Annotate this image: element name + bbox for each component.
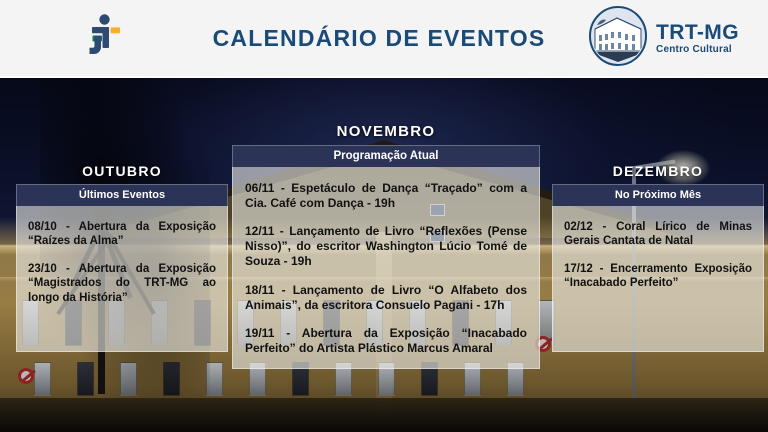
event-item: 19/11 - Abertura da Exposição “Inacabado…: [245, 326, 527, 356]
month-subtitle-novembro: Programação Atual: [232, 145, 540, 167]
month-column-novembro: NOVEMBRO Programação Atual 06/11 - Espet…: [232, 123, 540, 369]
month-title-dezembro: DEZEMBRO: [552, 163, 764, 179]
poster-header: CALENDÁRIO DE EVENTOS: [0, 0, 768, 78]
month-subtitle-outubro: Últimos Eventos: [16, 184, 228, 206]
month-subtitle-dezembro: No Próximo Mês: [552, 184, 764, 206]
month-title-outubro: OUTUBRO: [16, 163, 228, 179]
header-brand-area: TRT-MG Centro Cultural: [558, 5, 768, 72]
event-item: 17/12 - Encerramento Exposição “Inacabad…: [564, 262, 752, 291]
month-column-dezembro: DEZEMBRO No Próximo Mês 02/12 - Coral Lí…: [552, 163, 764, 352]
month-events-dezembro: 02/12 - Coral Lírico de Minas Gerais Can…: [552, 206, 764, 352]
trt-jt-symbol-logo: [80, 13, 120, 64]
month-events-novembro: 06/11 - Espetáculo de Dança “Traçado” co…: [232, 167, 540, 369]
event-item: 12/11 - Lançamento de Livro “Reflexões (…: [245, 224, 527, 269]
cultural-center-building-emblem: [587, 5, 649, 72]
event-item: 06/11 - Espetáculo de Dança “Traçado” co…: [245, 181, 527, 211]
month-events-outubro: 08/10 - Abertura da Exposição “Raízes da…: [16, 206, 228, 352]
event-item: 18/11 - Lançamento de Livro “O Alfabeto …: [245, 283, 527, 313]
event-item: 23/10 - Abertura da Exposição “Magistrad…: [28, 262, 216, 305]
page-title: CALENDÁRIO DE EVENTOS: [213, 25, 546, 52]
brand-text: TRT-MG Centro Cultural: [656, 22, 739, 55]
brand-name: TRT-MG: [656, 22, 739, 43]
event-item: 08/10 - Abertura da Exposição “Raízes da…: [28, 220, 216, 249]
header-left-logo-area: [0, 13, 200, 64]
brand-subtitle: Centro Cultural: [656, 45, 732, 55]
header-title-area: CALENDÁRIO DE EVENTOS: [200, 25, 558, 52]
event-calendar-poster: CALENDÁRIO DE EVENTOS: [0, 0, 768, 432]
month-title-novembro: NOVEMBRO: [232, 123, 540, 140]
event-item: 02/12 - Coral Lírico de Minas Gerais Can…: [564, 220, 752, 249]
month-column-outubro: OUTUBRO Últimos Eventos 08/10 - Abertura…: [16, 163, 228, 352]
